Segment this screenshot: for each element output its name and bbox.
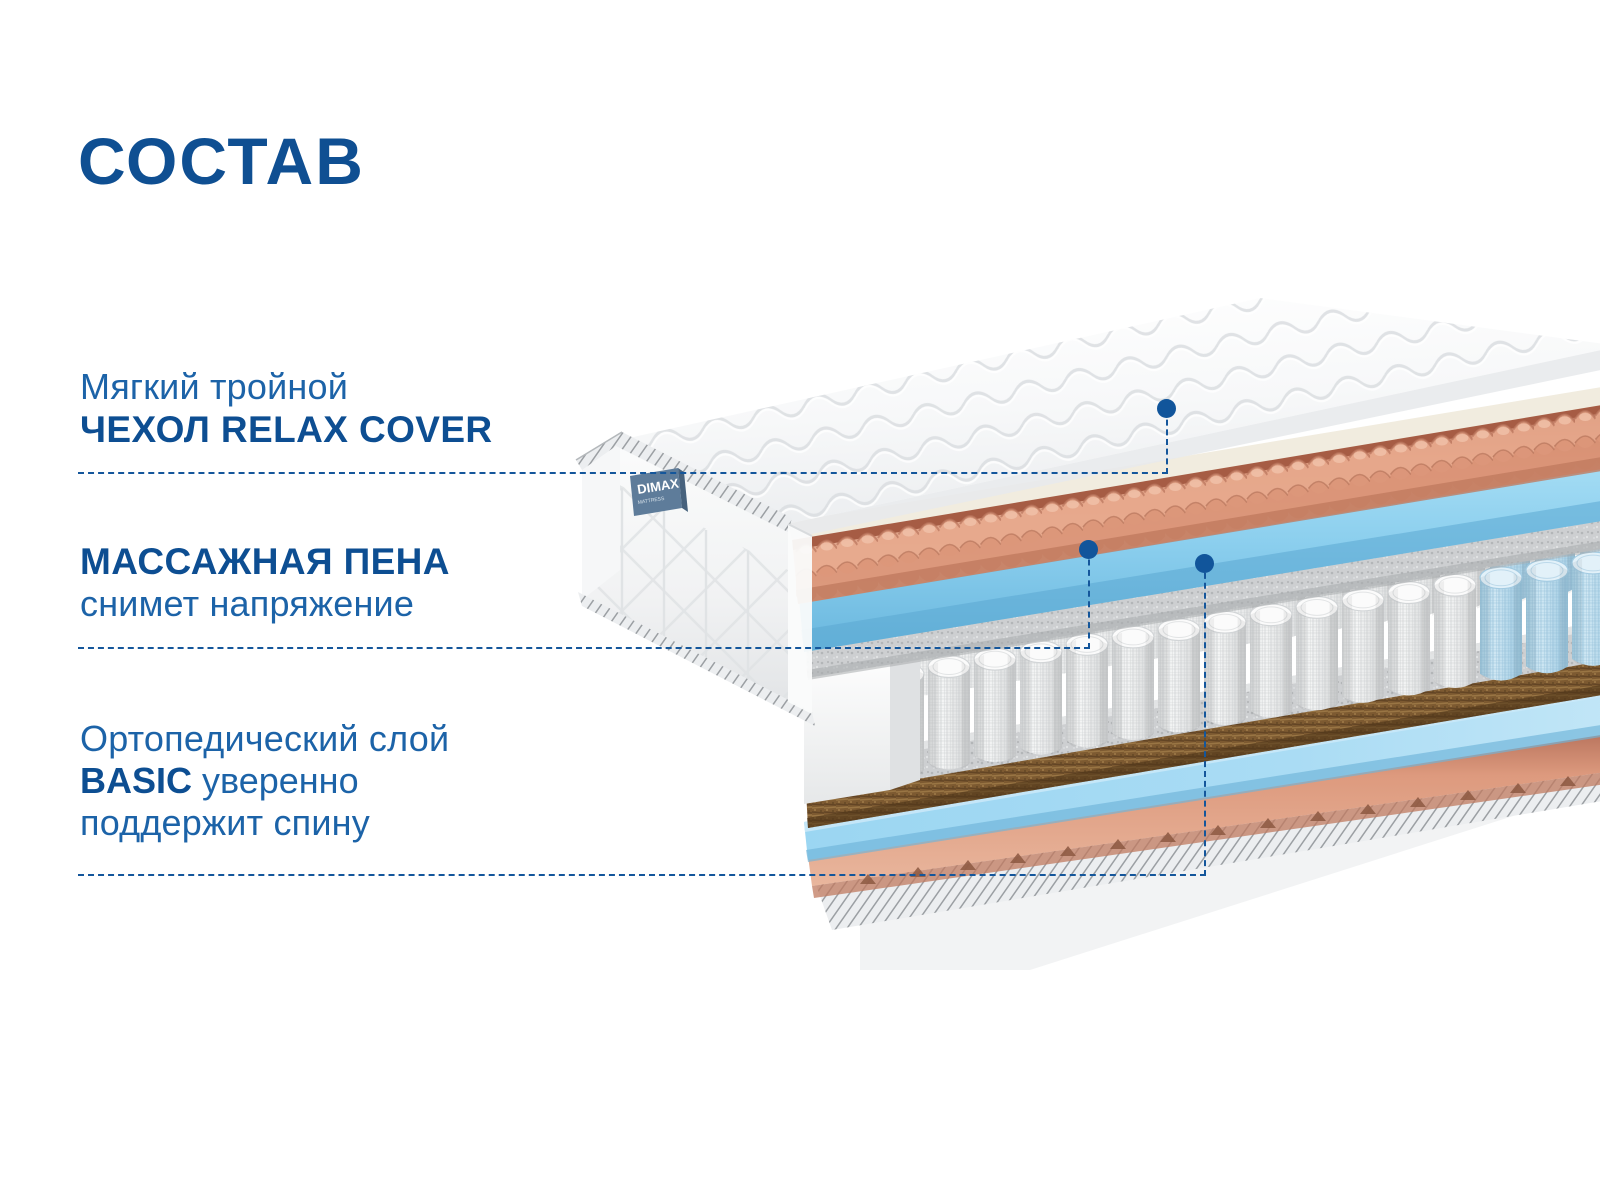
mattress-illustration: DIMAX MATTRESS bbox=[560, 270, 1600, 970]
leader-line-basic bbox=[78, 874, 1206, 876]
callout-cover-line2: ЧЕХОЛ RELAX COVER bbox=[80, 408, 493, 451]
callout-massage-foam: МАССАЖНАЯ ПЕНА снимет напряжение bbox=[80, 540, 450, 625]
leader-line-foam bbox=[78, 647, 1090, 649]
leader-line-basic-vertical bbox=[1204, 563, 1206, 876]
leader-line-cover-vertical bbox=[1166, 410, 1168, 474]
leader-line-foam-vertical bbox=[1088, 549, 1090, 649]
marker-dot-foam bbox=[1079, 540, 1098, 559]
cutaway-edge bbox=[788, 524, 812, 714]
callout-foam-line1: МАССАЖНАЯ ПЕНА bbox=[80, 540, 450, 583]
callout-basic-line1: Ортопедический слой bbox=[80, 718, 449, 760]
callout-cover-line1: Мягкий тройной bbox=[80, 366, 493, 408]
composition-canvas: СОСТАВ bbox=[0, 0, 1600, 1200]
page-title: СОСТАВ bbox=[78, 128, 365, 194]
callout-cover: Мягкий тройной ЧЕХОЛ RELAX COVER bbox=[80, 366, 493, 451]
leader-line-cover bbox=[78, 472, 1168, 474]
callout-basic-line3: поддержит спину bbox=[80, 802, 449, 844]
marker-dot-basic bbox=[1195, 554, 1214, 573]
callout-basic-bold: BASIC bbox=[80, 760, 192, 801]
callout-basic-rest: уверенно bbox=[192, 760, 359, 801]
callout-basic-line2: BASIC уверенно bbox=[80, 760, 449, 802]
callout-foam-line2: снимет напряжение bbox=[80, 583, 450, 625]
callout-basic-layer: Ортопедический слой BASIC уверенно подде… bbox=[80, 718, 449, 844]
marker-dot-cover bbox=[1157, 399, 1176, 418]
